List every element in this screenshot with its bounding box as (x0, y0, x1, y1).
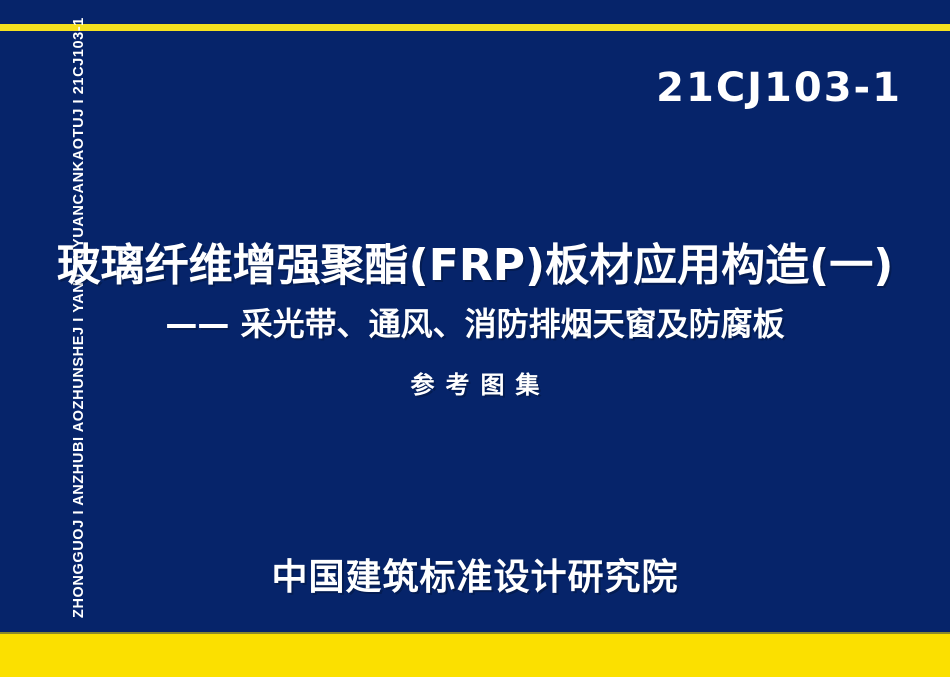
bottom-yellow-band (0, 634, 950, 677)
atlas-cover: ZHONGGUOJ I ANZHUBI AOZHUNSHEJ I YANJ I … (0, 0, 950, 677)
publisher-name: 中国建筑标准设计研究院 (0, 548, 950, 600)
atlas-kind-label: 参考图集 (0, 365, 950, 400)
title-block: 玻璃纤维增强聚酯(FRP)板材应用构造(一) —— 采光带、通风、消防排烟天窗及… (0, 238, 950, 400)
sub-title: —— 采光带、通风、消防排烟天窗及防腐板 (0, 301, 950, 347)
main-title: 玻璃纤维增强聚酯(FRP)板材应用构造(一) (0, 238, 950, 293)
atlas-code: 21CJ103-1 (640, 62, 918, 118)
top-yellow-rule (0, 24, 950, 31)
